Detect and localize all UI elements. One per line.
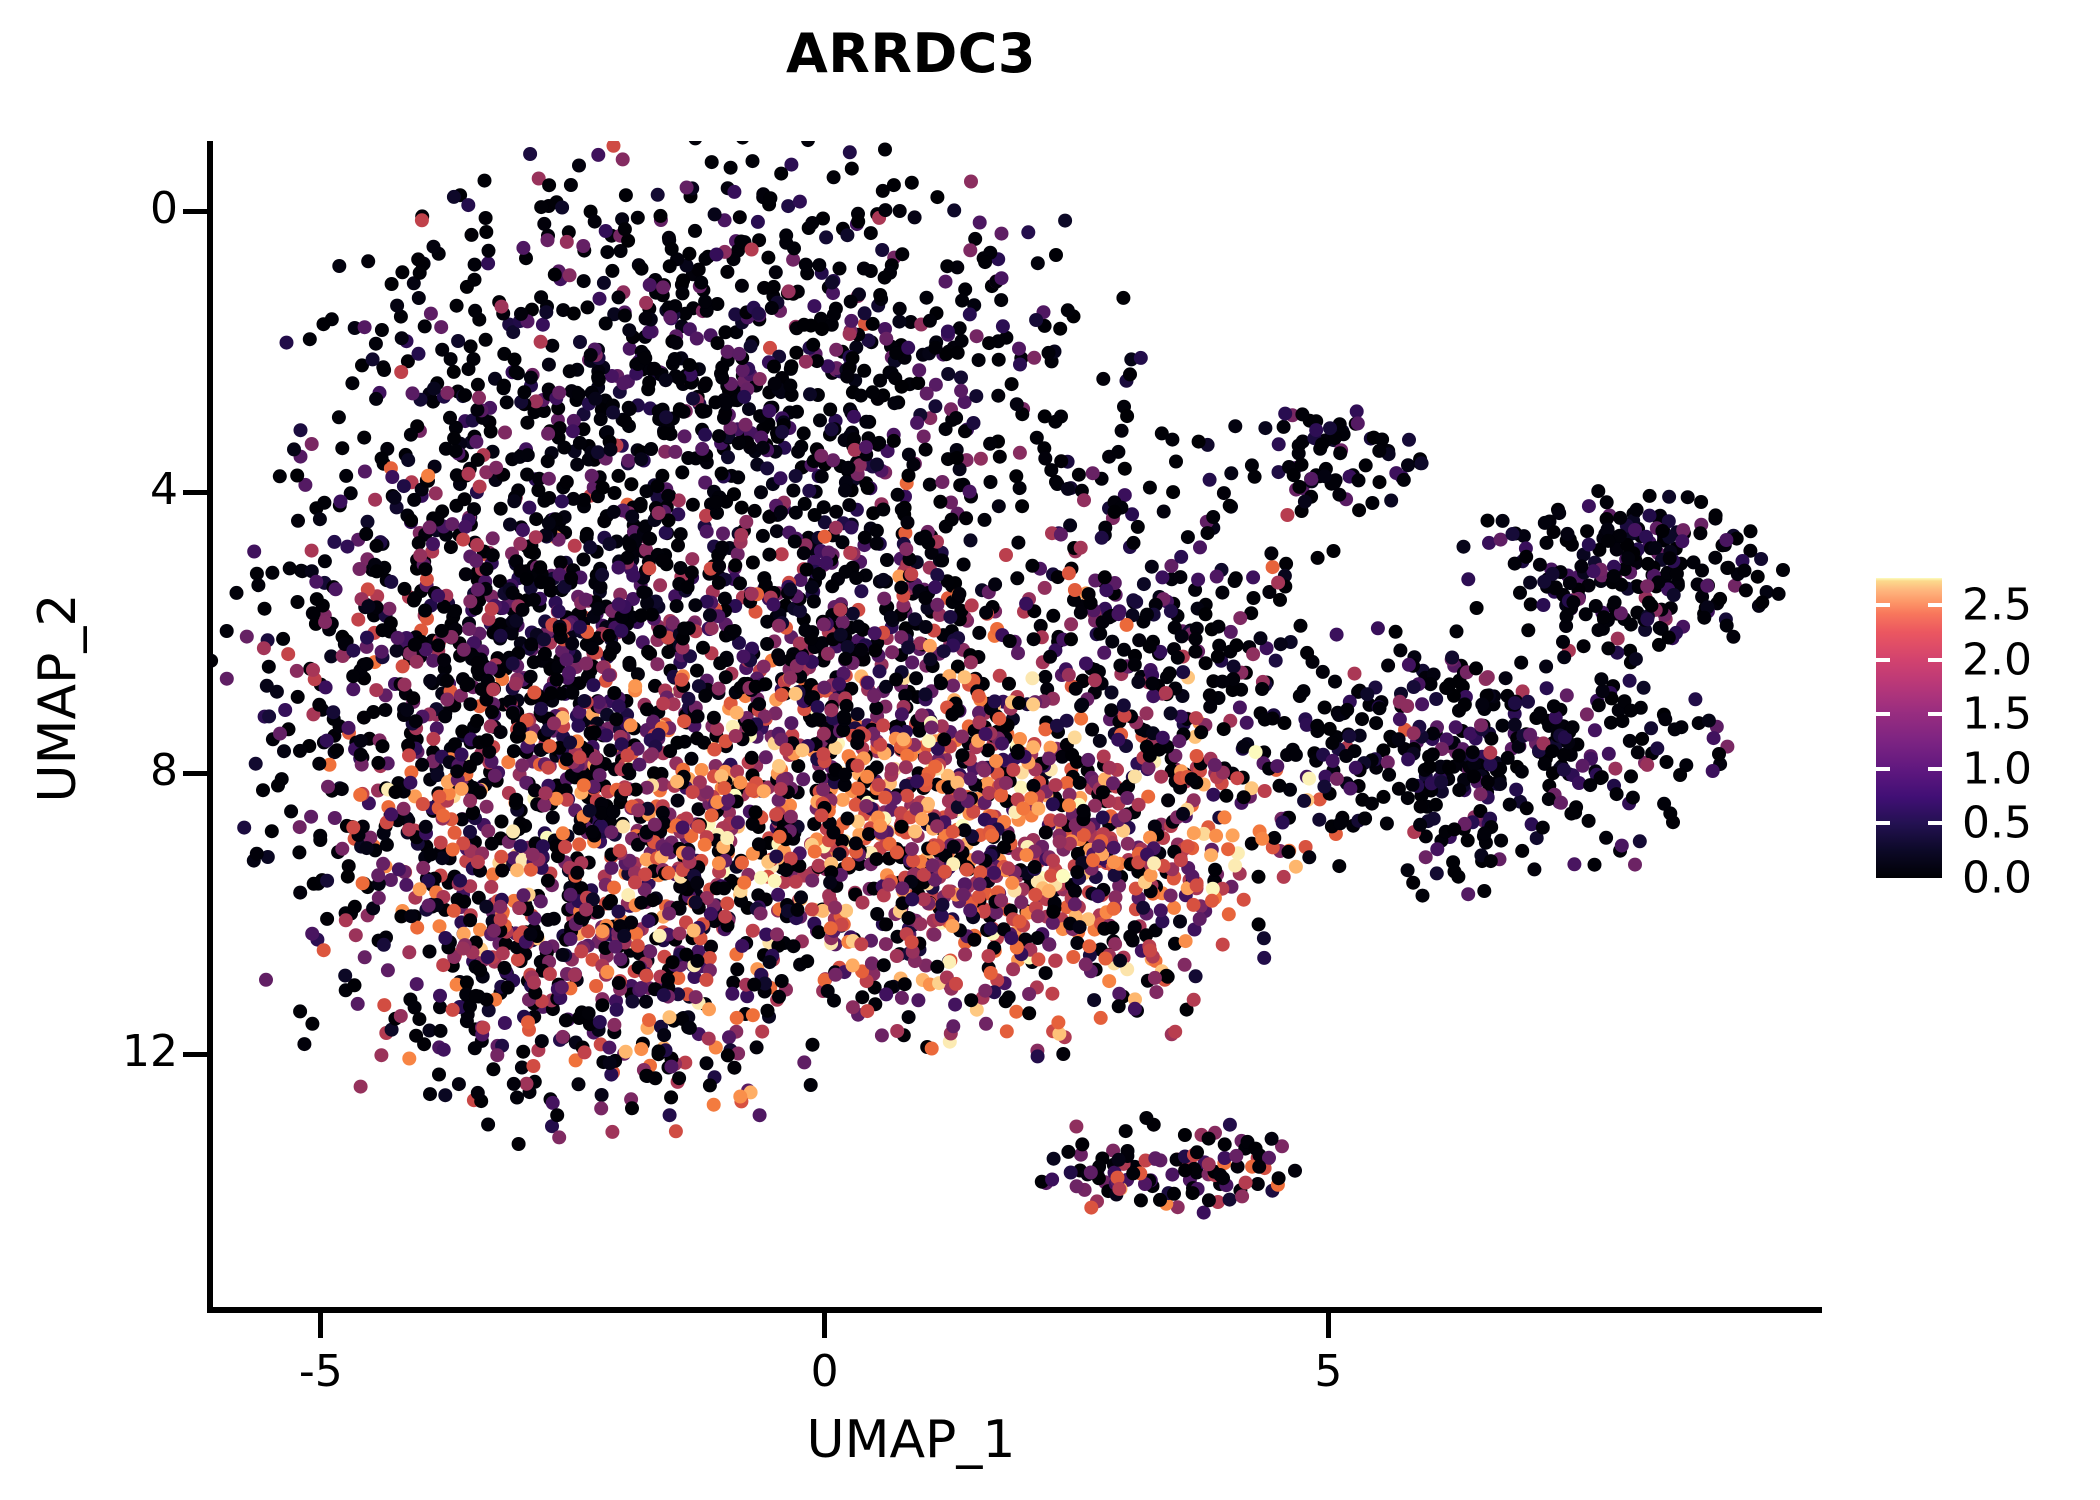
colorbar-tick-mark: [1928, 603, 1942, 607]
colorbar-tick-mark: [1928, 712, 1942, 716]
colorbar-tick-label: 0.0: [1962, 853, 2032, 904]
colorbar-tick-label: 1.0: [1962, 743, 2032, 794]
x-tick-mark: [318, 1312, 323, 1338]
y-tick-mark: [183, 490, 209, 495]
scatter-plot-area: [210, 141, 1822, 1307]
colorbar-tick-mark: [1928, 821, 1942, 825]
x-tick-label: -5: [251, 1346, 391, 1397]
y-tick-mark: [183, 771, 209, 776]
colorbar-gradient: [1876, 578, 1942, 878]
x-tick-mark: [1326, 1312, 1331, 1338]
colorbar-tick-mark: [1876, 658, 1890, 662]
scatter-points-layer: [210, 141, 1822, 1307]
colorbar: [1876, 578, 1942, 878]
colorbar-tick-label: 0.5: [1962, 798, 2032, 849]
colorbar-tick-label: 1.5: [1962, 689, 2032, 740]
y-tick-mark: [183, 209, 209, 214]
y-tick-mark: [183, 1052, 209, 1057]
x-tick-label: 0: [755, 1346, 895, 1397]
page-title: ARRDC3: [0, 22, 1822, 85]
colorbar-tick-label: 2.5: [1962, 580, 2032, 631]
colorbar-tick-mark: [1876, 821, 1890, 825]
y-tick-label: 0: [90, 183, 178, 234]
y-tick-label: 4: [90, 464, 178, 515]
colorbar-tick-mark: [1876, 712, 1890, 716]
y-tick-label: 8: [90, 745, 178, 796]
colorbar-tick-mark: [1876, 767, 1890, 771]
colorbar-tick-mark: [1876, 603, 1890, 607]
figure-canvas: ARRDC3 12840 -505 UMAP_1 UMAP_2 2.52.01.…: [0, 0, 2100, 1500]
x-tick-mark: [822, 1312, 827, 1338]
y-axis-label: UMAP_2: [28, 348, 88, 1048]
x-axis-label: UMAP_1: [0, 1410, 1822, 1470]
colorbar-tick-label: 2.0: [1962, 634, 2032, 685]
y-tick-label: 12: [90, 1026, 178, 1077]
colorbar-tick-mark: [1928, 767, 1942, 771]
colorbar-tick-mark: [1928, 658, 1942, 662]
x-tick-label: 5: [1258, 1346, 1398, 1397]
x-axis-spine: [207, 1307, 1822, 1313]
